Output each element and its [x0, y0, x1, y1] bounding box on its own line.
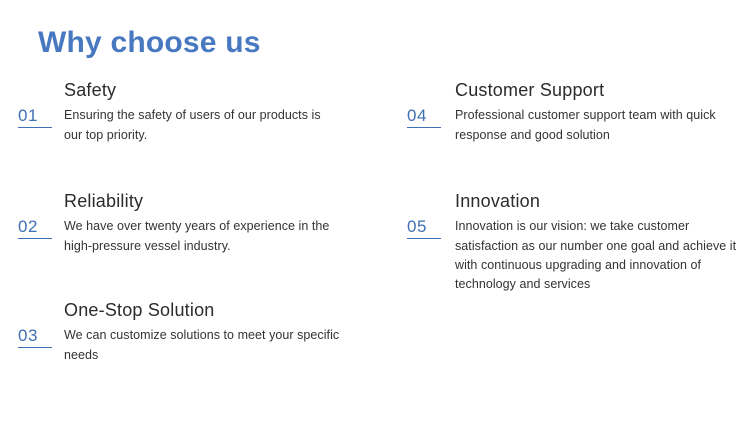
feature-number: 05: [407, 217, 441, 239]
feature-number: 01: [18, 106, 52, 128]
feature-description: We have over twenty years of experience …: [64, 217, 342, 256]
feature-title: Reliability: [64, 189, 378, 213]
feature-content: Innovation Innovation is our vision: we …: [455, 189, 747, 295]
features-column-left: 01 Safety Ensuring the safety of users o…: [18, 78, 378, 387]
feature-number: 02: [18, 217, 52, 239]
feature-title: Safety: [64, 78, 378, 102]
feature-title: Customer Support: [455, 78, 747, 102]
feature-description: Professional customer support team with …: [455, 106, 747, 145]
feature-title: Innovation: [455, 189, 747, 213]
feature-number: 04: [407, 106, 441, 128]
feature-content: Reliability We have over twenty years of…: [64, 189, 378, 256]
feature-item: 02 Reliability We have over twenty years…: [18, 189, 378, 256]
feature-title: One-Stop Solution: [64, 298, 378, 322]
feature-description: Innovation is our vision: we take custom…: [455, 217, 747, 295]
feature-content: One-Stop Solution We can customize solut…: [64, 298, 378, 365]
feature-item: 03 One-Stop Solution We can customize so…: [18, 298, 378, 365]
feature-item: 05 Innovation Innovation is our vision: …: [407, 189, 747, 295]
feature-description: We can customize solutions to meet your …: [64, 326, 342, 365]
page-title: Why choose us: [38, 26, 261, 59]
why-choose-us-section: Why choose us 01 Safety Ensuring the saf…: [0, 0, 750, 422]
feature-item: 01 Safety Ensuring the safety of users o…: [18, 78, 378, 145]
feature-content: Safety Ensuring the safety of users of o…: [64, 78, 378, 145]
feature-item: 04 Customer Support Professional custome…: [407, 78, 747, 145]
feature-description: Ensuring the safety of users of our prod…: [64, 106, 342, 145]
feature-number: 03: [18, 326, 52, 348]
feature-content: Customer Support Professional customer s…: [455, 78, 747, 145]
features-column-right: 04 Customer Support Professional custome…: [407, 78, 747, 317]
